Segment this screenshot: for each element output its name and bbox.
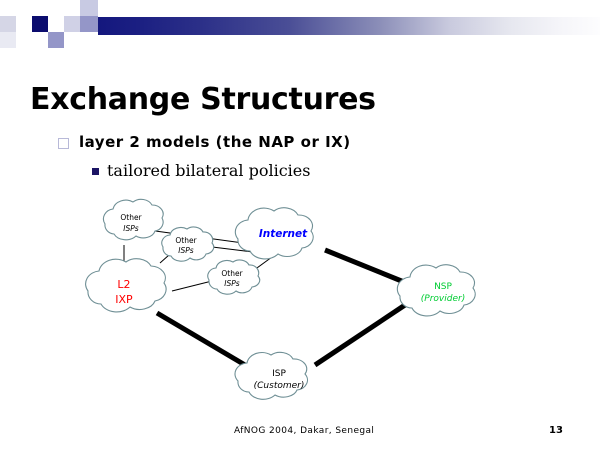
deco-square — [16, 16, 32, 32]
node-label-line2: (Customer) — [254, 381, 305, 391]
header-decoration — [0, 0, 600, 48]
node-label-line2: (Provider) — [421, 294, 465, 304]
node-label-line1: Other — [175, 236, 197, 245]
hollow-square-bullet-icon — [58, 138, 69, 149]
node-label-line1: ISP — [272, 369, 286, 379]
network-diagram: Other ISPs Other ISPs Other ISPs L2 IXP … — [0, 195, 600, 425]
deco-square — [16, 32, 32, 48]
node-label-line1: L2 — [117, 278, 130, 291]
footer-event-label: AfNOG 2004, Dakar, Senegal — [234, 426, 374, 436]
node-label-line1: Other — [120, 213, 142, 222]
thick-links — [157, 250, 405, 365]
node-isp[interactable]: ISP (Customer) — [235, 352, 307, 399]
bullet-level2-label: tailored bilateral policies — [107, 161, 310, 180]
link-internet-nsp — [325, 250, 404, 282]
deco-square — [0, 16, 16, 32]
node-other-isps-1[interactable]: Other ISPs — [103, 199, 163, 239]
deco-square — [32, 32, 48, 48]
deco-square — [48, 32, 64, 48]
node-label-line2: ISPs — [123, 224, 138, 233]
node-nsp[interactable]: NSP (Provider) — [397, 265, 475, 316]
node-l2-ixp[interactable]: L2 IXP — [86, 259, 166, 312]
bullet-item-level2: tailored bilateral policies — [92, 161, 310, 180]
link-otherisps3-l2ixp — [172, 281, 212, 291]
bullet-level1-label: layer 2 models (the NAP or IX) — [79, 133, 351, 151]
page-title: Exchange Structures — [30, 82, 376, 117]
deco-square — [16, 0, 32, 16]
node-label-line2: IXP — [115, 293, 133, 306]
node-label-line2: ISPs — [178, 246, 193, 255]
node-other-isps-3[interactable]: Other ISPs — [208, 260, 260, 294]
node-label-line2: ISPs — [224, 279, 239, 288]
deco-square — [48, 16, 64, 32]
deco-square — [80, 0, 98, 16]
filled-square-bullet-icon — [92, 168, 99, 175]
deco-square — [0, 0, 16, 16]
deco-square — [64, 0, 80, 16]
deco-square — [32, 16, 48, 32]
node-other-isps-2[interactable]: Other ISPs — [162, 227, 214, 261]
deco-square — [32, 0, 48, 16]
deco-square — [0, 32, 16, 48]
deco-square — [80, 32, 98, 48]
node-label-line1: Internet — [259, 228, 308, 240]
header-gradient-bar — [98, 17, 600, 35]
deco-square — [80, 16, 98, 32]
footer-page-number: 13 — [549, 425, 563, 436]
node-label-line1: NSP — [434, 282, 452, 292]
node-label-line1: Other — [221, 269, 243, 278]
link-isp-nsp — [315, 305, 405, 365]
link-l2ixp-isp — [157, 313, 245, 365]
deco-square — [48, 0, 64, 16]
bullet-item-level1: layer 2 models (the NAP or IX) — [58, 133, 351, 151]
deco-square — [64, 32, 80, 48]
deco-square — [64, 16, 80, 32]
